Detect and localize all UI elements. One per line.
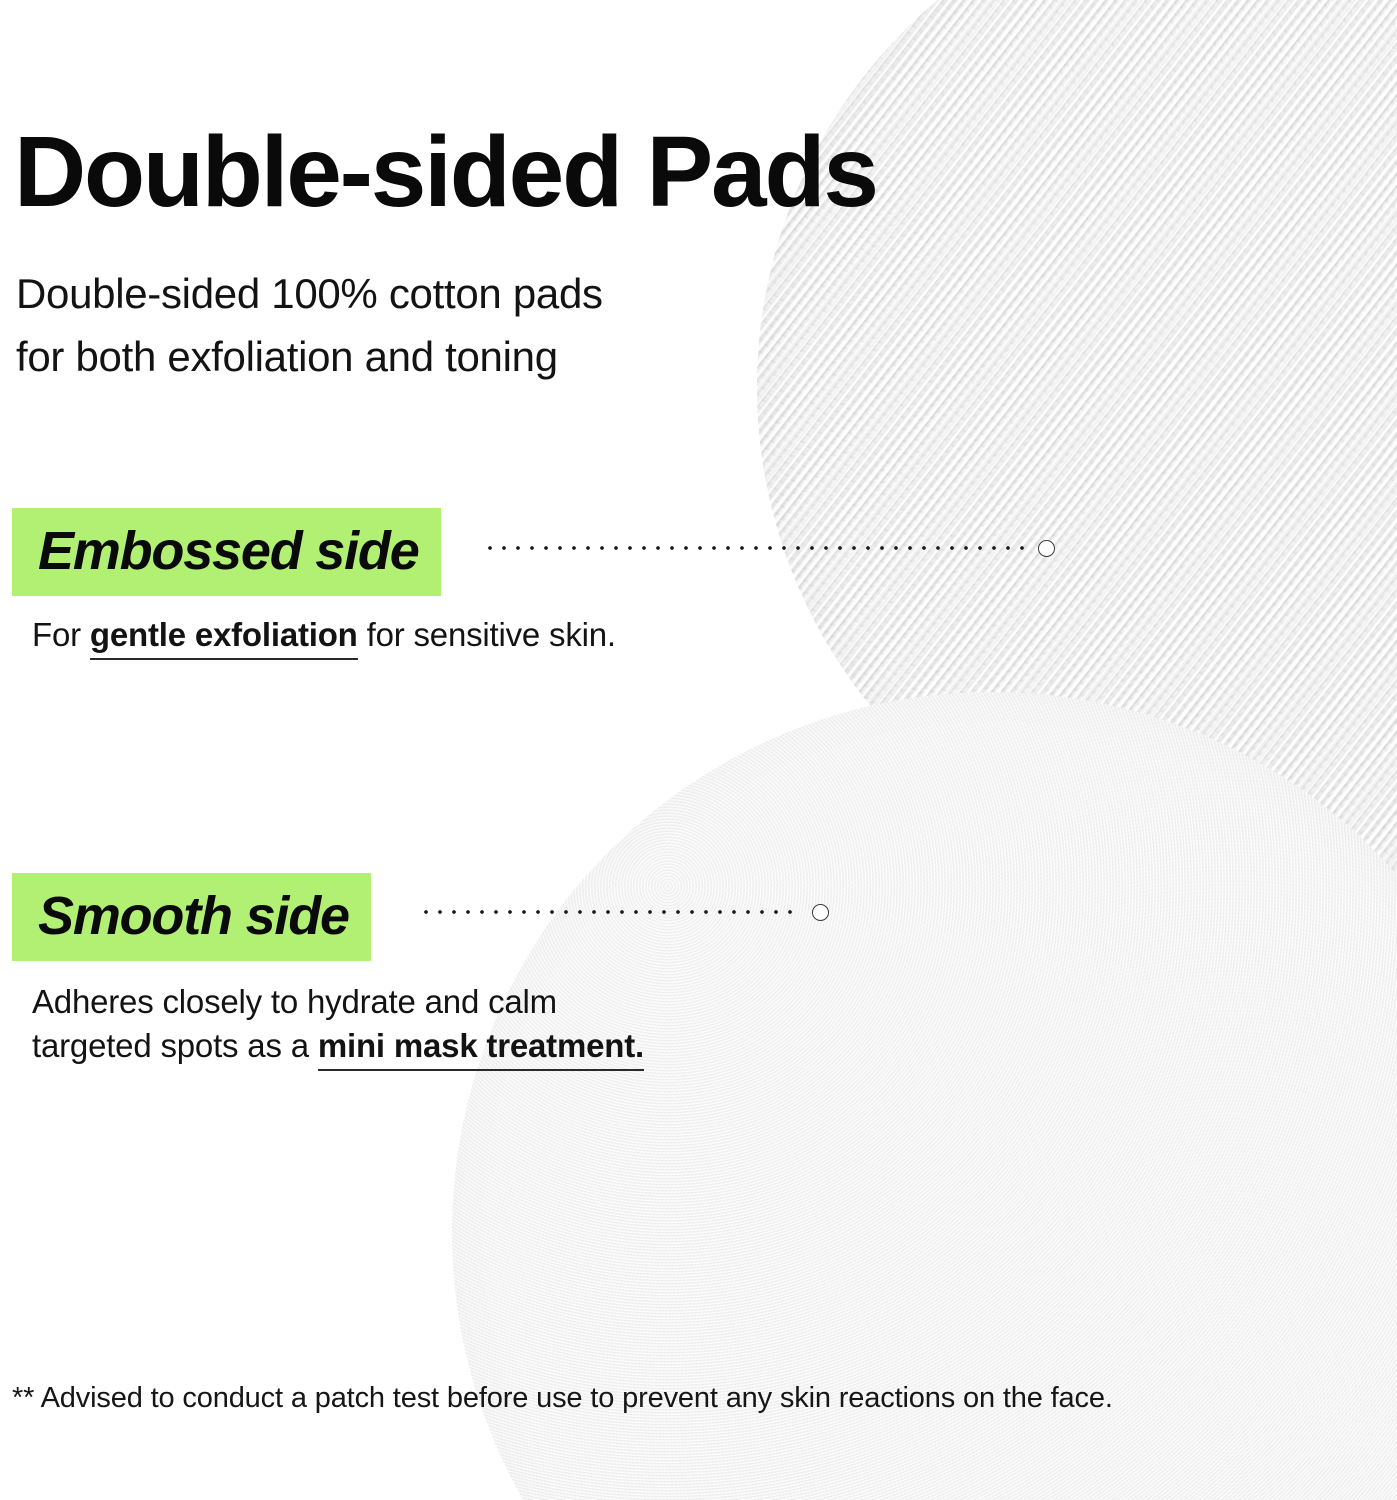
- desc-smooth-emphasis: mini mask treatment.: [318, 1027, 644, 1071]
- desc-embossed-prefix: For: [32, 616, 90, 653]
- footnote-disclaimer: ** Advised to conduct a patch test befor…: [12, 1382, 1113, 1415]
- feature-description-embossed: For gentle exfoliation for sensitive ski…: [32, 613, 616, 657]
- feature-label-embossed-side: Embossed side: [12, 508, 441, 596]
- feature-label-smooth-side: Smooth side: [12, 873, 371, 961]
- leader-endpoint-circle-icon-smooth: [812, 904, 829, 921]
- desc-embossed-emphasis: gentle exfoliation: [90, 616, 358, 660]
- leader-endpoint-circle-icon-embossed: [1038, 540, 1055, 557]
- leader-line-smooth: [423, 909, 802, 915]
- leader-line-embossed: [487, 545, 1030, 551]
- feature-description-smooth: Adheres closely to hydrate and calm targ…: [32, 980, 644, 1068]
- product-infographic: Double-sided Pads Double-sided 100% cott…: [0, 0, 1397, 1500]
- page-title: Double-sided Pads: [14, 122, 877, 222]
- desc-embossed-suffix: for sensitive skin.: [358, 616, 616, 653]
- text-layer: Double-sided Pads Double-sided 100% cott…: [0, 0, 1397, 1500]
- page-subtitle: Double-sided 100% cotton pads for both e…: [16, 262, 603, 388]
